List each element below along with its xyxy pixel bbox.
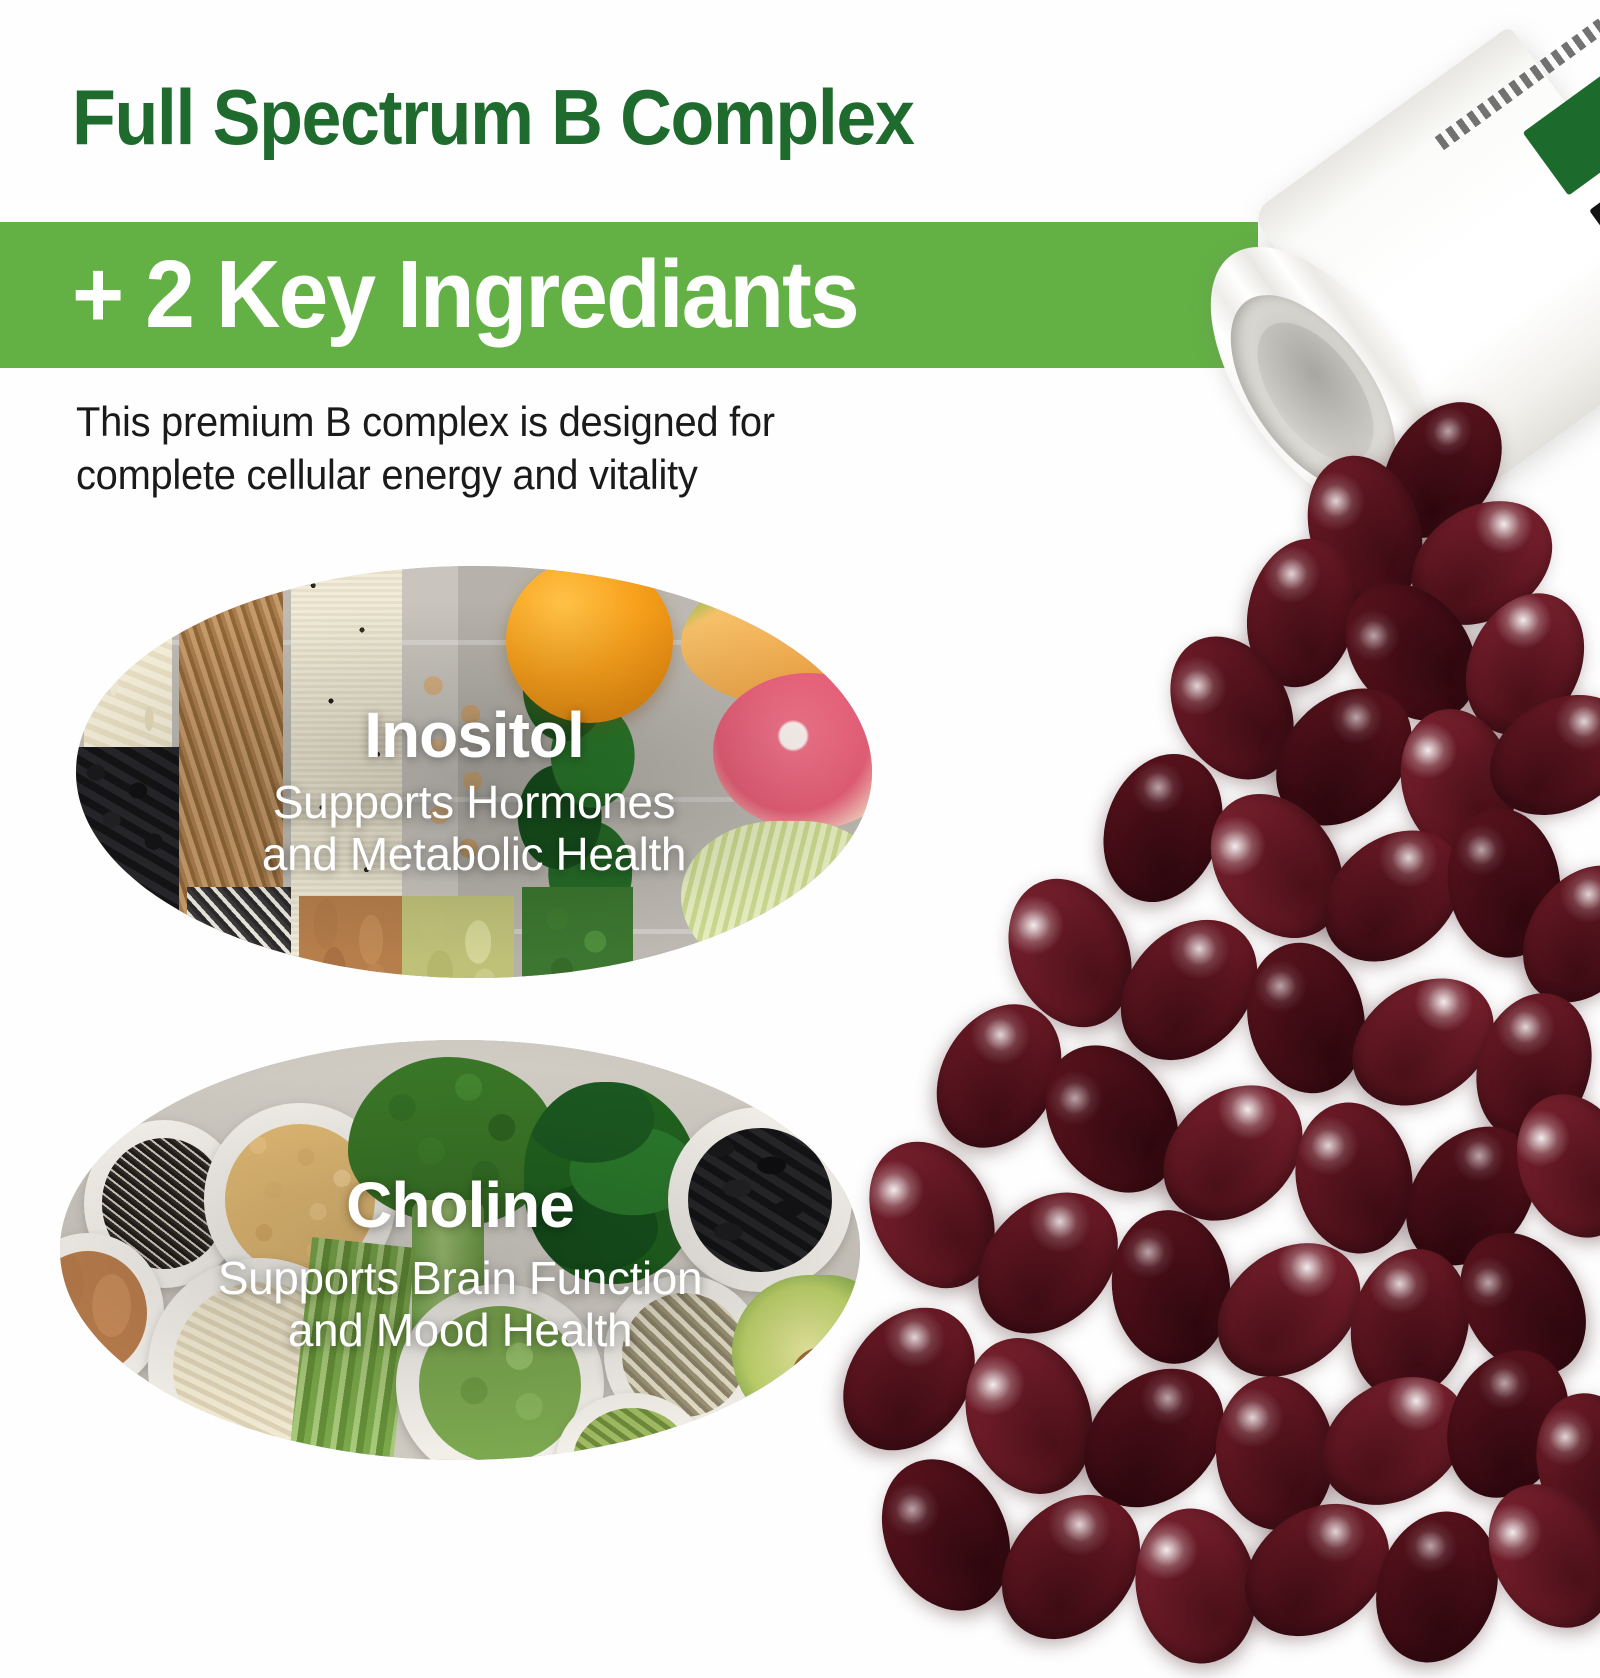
- page-subtitle: This premium B complex is designed for c…: [76, 396, 931, 502]
- ingredient-name-choline: Choline: [60, 1168, 860, 1242]
- ingredient-card-inositol: Inositol Supports Hormones and Metabolic…: [76, 566, 872, 978]
- bottle-label: [1431, 0, 1600, 334]
- benefit-line-2: and Metabolic Health: [76, 828, 872, 880]
- ingredient-benefit-choline: Supports Brain Function and Mood Health: [60, 1252, 860, 1357]
- bottle-mouth-interior: [1234, 302, 1396, 481]
- ingredient-card-choline: Choline Supports Brain Function and Mood…: [60, 1040, 860, 1460]
- inositol-food-photo: [76, 566, 872, 978]
- page-headline: Full Spectrum B Complex: [72, 72, 913, 163]
- benefit-line-2: and Mood Health: [60, 1304, 860, 1356]
- benefit-line-1: Supports Hormones: [76, 776, 872, 828]
- capsule: [1284, 1093, 1425, 1263]
- choline-food-photo: [60, 1040, 860, 1460]
- ingredient-benefit-inositol: Supports Hormones and Metabolic Health: [76, 776, 872, 881]
- product-scene: [830, 120, 1600, 1600]
- benefit-line-1: Supports Brain Function: [60, 1252, 860, 1304]
- ingredient-name-inositol: Inositol: [76, 698, 872, 772]
- key-ingredients-band-label: + 2 Key Ingrediants: [72, 224, 858, 366]
- capsule: [1104, 1204, 1237, 1369]
